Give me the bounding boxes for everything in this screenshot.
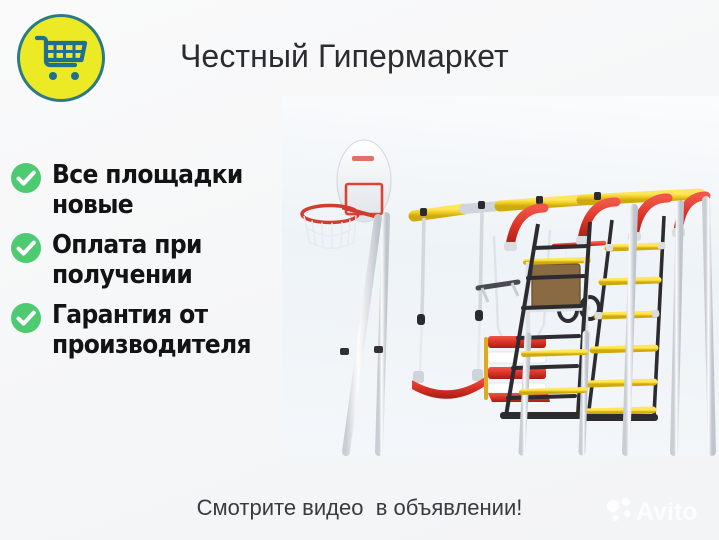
benefit-label: Все площадки новые xyxy=(52,160,288,220)
basketball-hoop-and-net xyxy=(302,206,374,249)
check-circle-icon xyxy=(10,302,42,334)
avito-watermark: Avito xyxy=(603,494,707,528)
shopping-cart-icon xyxy=(34,33,88,83)
benefit-item: Все площадки новые xyxy=(8,160,308,220)
product-photo xyxy=(282,96,719,456)
benefit-item: Гарантия от производителя xyxy=(8,300,308,360)
benefit-item: Оплата при получении xyxy=(8,230,308,290)
playground-equipment-illustration xyxy=(282,96,719,456)
brand-logo xyxy=(17,14,105,102)
support-poles xyxy=(340,216,386,452)
svg-text:Avito: Avito xyxy=(636,498,698,526)
benefits-list: Все площадки новые Оплата при получении … xyxy=(8,160,308,360)
advertisement-card: Честный Гипермаркет Все площадки новые О… xyxy=(0,0,719,540)
check-circle-icon xyxy=(10,162,42,194)
pull-up-bar xyxy=(478,282,518,302)
baby-swing-seat xyxy=(486,230,550,402)
benefit-label: Оплата при получении xyxy=(52,230,288,290)
bench-seat xyxy=(526,260,588,336)
brand-title: Честный Гипермаркет xyxy=(180,38,509,75)
check-circle-icon xyxy=(10,232,42,264)
benefit-label: Гарантия от производителя xyxy=(52,300,288,360)
swing-seat xyxy=(412,212,485,399)
